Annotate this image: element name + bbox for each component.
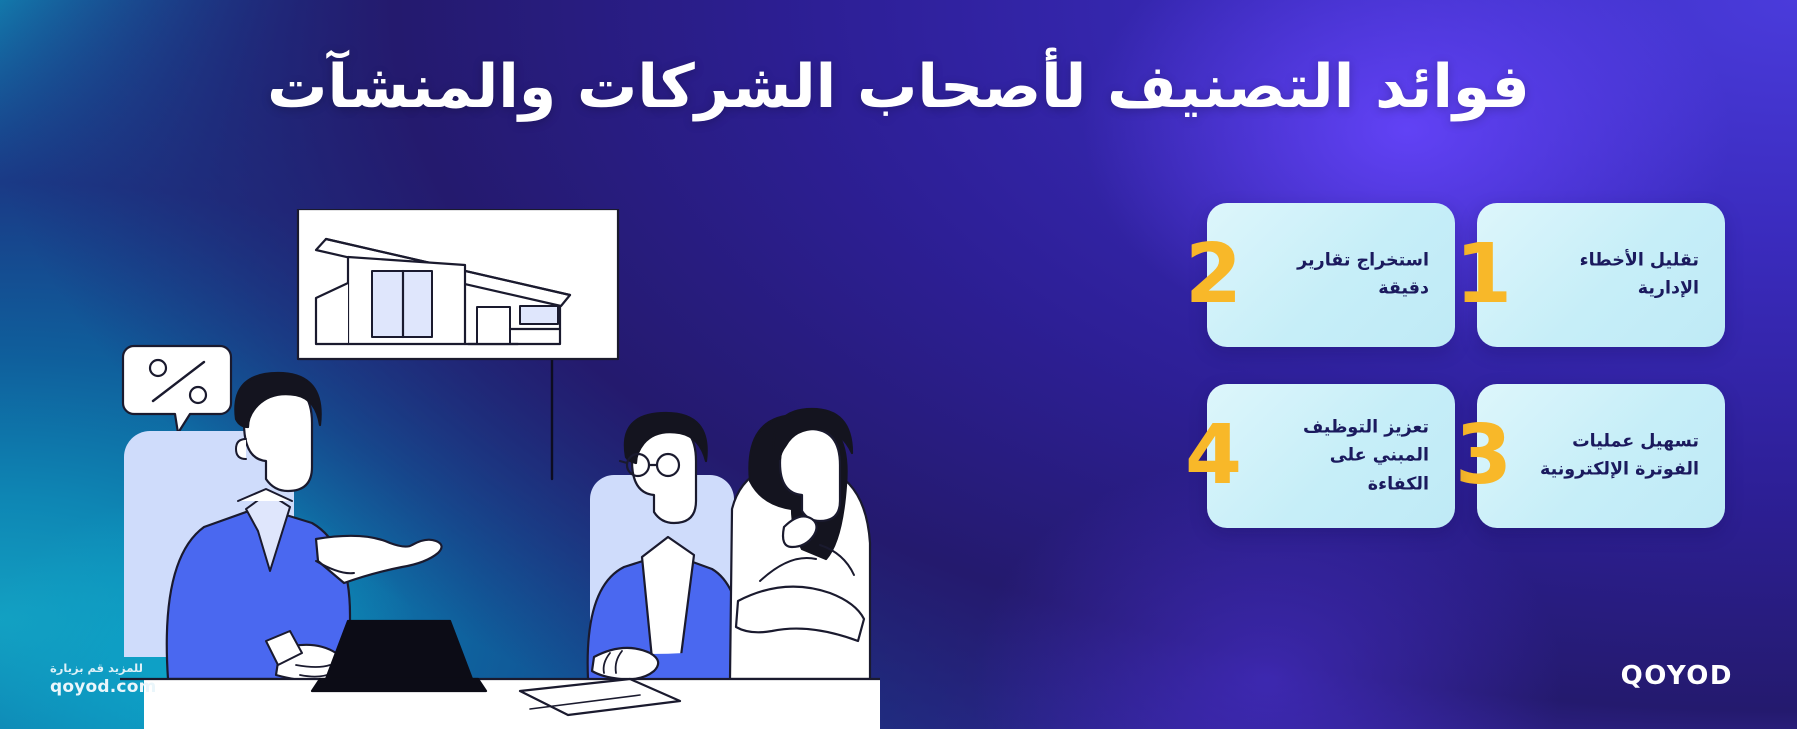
visit-callout: للمزيد قم بزيارة qoyod.com bbox=[50, 660, 157, 697]
qoyod-logo: QOYOD bbox=[1621, 661, 1733, 691]
benefit-card-1[interactable]: 1 تقليل الأخطاء الإدارية bbox=[1477, 203, 1725, 347]
benefit-card-4-number: 4 bbox=[1185, 415, 1242, 497]
page-title: فوائد التصنيف لأصحاب الشركات والمنشآت bbox=[72, 52, 1725, 123]
infographic-canvas: فوائد التصنيف لأصحاب الشركات والمنشآت bbox=[0, 0, 1797, 729]
benefit-cards: 1 تقليل الأخطاء الإدارية 2 استخراج تقاري… bbox=[917, 203, 1797, 533]
benefit-card-1-number: 1 bbox=[1455, 234, 1512, 316]
visit-label: للمزيد قم بزيارة bbox=[50, 660, 157, 677]
website-url[interactable]: qoyod.com bbox=[50, 677, 157, 697]
benefit-card-4[interactable]: 4 تعزيز التوظيف المبني على الكفاءة bbox=[1207, 384, 1455, 528]
benefit-card-2-number: 2 bbox=[1185, 234, 1242, 316]
benefit-card-3[interactable]: 3 تسهيل عمليات الفوترة الإلكترونية bbox=[1477, 384, 1725, 528]
benefit-card-3-text: تسهيل عمليات الفوترة الإلكترونية bbox=[1539, 428, 1699, 485]
benefit-card-4-text: تعزيز التوظيف المبني على الكفاءة bbox=[1269, 413, 1429, 498]
benefit-card-1-text: تقليل الأخطاء الإدارية bbox=[1539, 247, 1699, 304]
benefit-card-3-number: 3 bbox=[1455, 415, 1512, 497]
benefit-card-2-text: استخراج تقارير دقيقة bbox=[1269, 247, 1429, 304]
benefit-card-2[interactable]: 2 استخراج تقارير دقيقة bbox=[1207, 203, 1455, 347]
meeting-illustration bbox=[120, 209, 880, 729]
qoyod-logo-text: QOYOD bbox=[1621, 661, 1733, 691]
